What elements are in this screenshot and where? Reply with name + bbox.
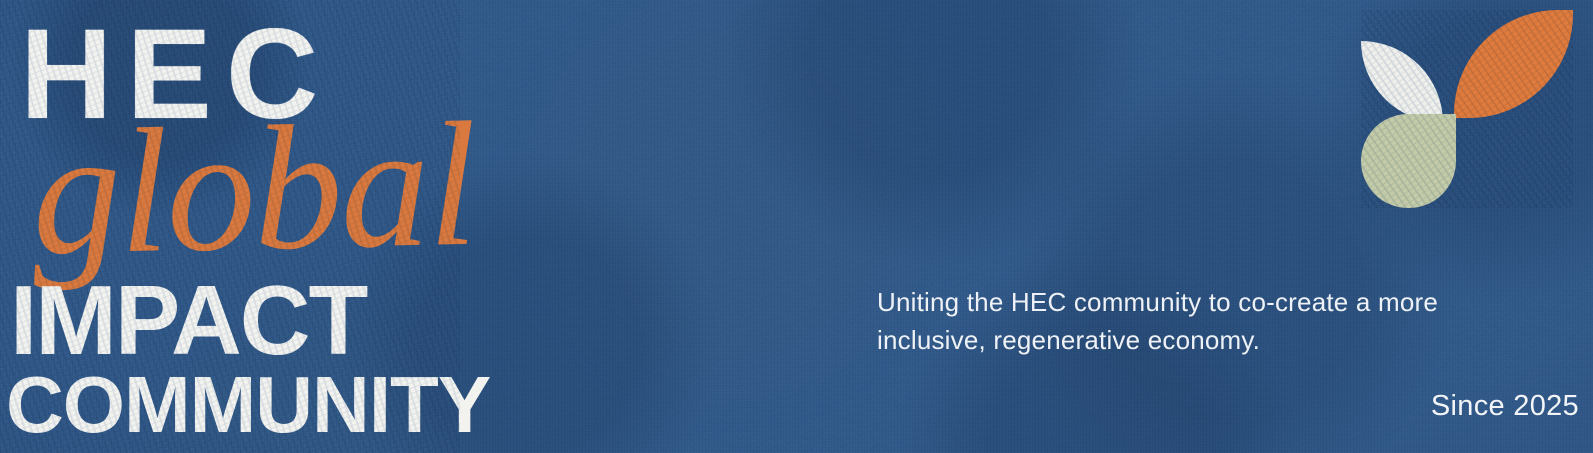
brand-lockup: HEC global IMPACT COMMUNITY [0, 0, 460, 453]
brand-word-global: global [30, 95, 477, 282]
leaf-petal-orange-icon [1454, 10, 1573, 118]
tagline-text: Uniting the HEC community to co-create a… [877, 283, 1517, 360]
leaf-logo-icon [1361, 10, 1573, 208]
brand-word-impact: IMPACT [10, 271, 366, 369]
leaf-petal-green-icon [1361, 114, 1456, 208]
brand-word-community: COMMUNITY [6, 365, 490, 445]
hec-global-impact-community-banner: HEC global IMPACT COMMUNITY Uniting the … [0, 0, 1593, 453]
leaf-petal-white-icon [1361, 41, 1443, 123]
since-year-label: Since 2025 [1431, 392, 1579, 421]
